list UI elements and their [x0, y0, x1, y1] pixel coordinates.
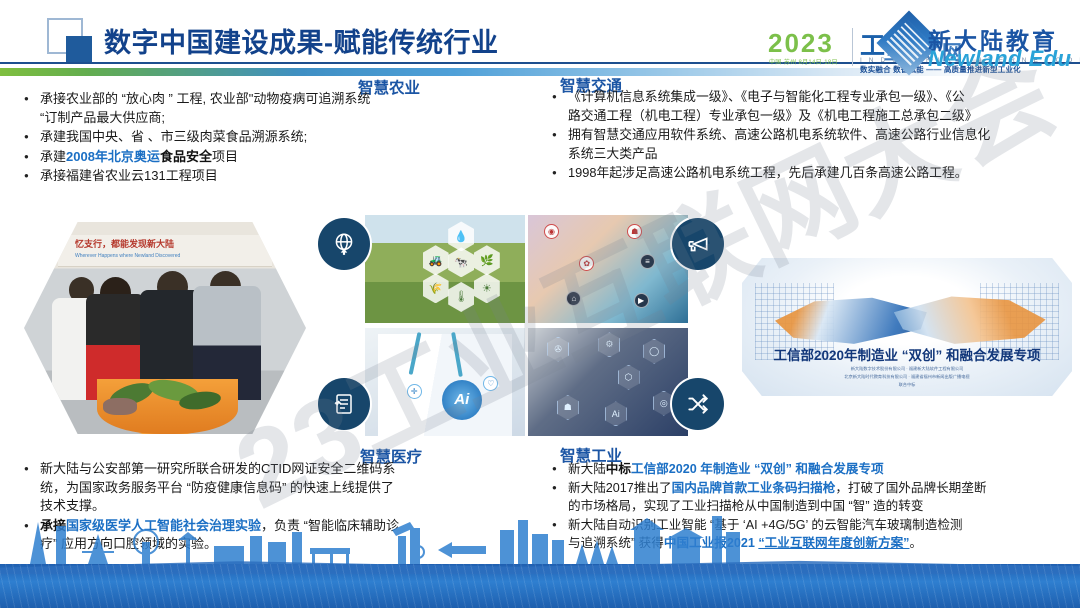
bullet-text-run: 国内品牌首款工业条码扫描枪	[672, 481, 836, 495]
photo-smart-agriculture: 💧 🚜 🌿 🐄 🌾 ☀ 🌡	[365, 215, 525, 323]
document-icon	[318, 378, 370, 430]
bullet-text-run: 承接	[40, 518, 66, 533]
bullet-line: 拥有智慧交通应用软件系统、高速公路机电系统软件、高速公路行业信息化	[568, 126, 1072, 145]
header-square-solid-decor	[66, 36, 92, 64]
page-title: 数字中国建设成果-赋能传统行业	[104, 21, 499, 60]
bullet-line: 路交通工程（机电工程）专业承包一级》及《机电工程施工总承包二级》	[568, 107, 1072, 126]
conference-logo: 2023 中国·苏州 8月14日-18日 工 互联网 I N D U S T R…	[756, 8, 1076, 70]
bullet-text-run: 的市场格局，实现了工业扫描枪从中国制造到中国 “智” 造的转变	[568, 499, 923, 513]
bullet-item: 承建2008年北京奥运食品安全项目	[24, 148, 544, 167]
award-banner: 工信部2020年制造业 “双创” 和融合发展专项 新大陆数字技术股份有限公司 ·…	[742, 258, 1072, 396]
globe-icon	[318, 218, 370, 270]
bullet-line: 新大陆自动识别工业智能 “基于 ‘AI +4G/5G’ 的云智能汽车玻璃制造检测	[568, 516, 1076, 534]
bullet-line: 承接农业部的 “放心肉 ” 工程, 农业部"动物疫病可追溯系统	[40, 90, 544, 109]
bullet-item: 承接福建省农业云131工程项目	[24, 167, 544, 186]
bullet-line: 系统三大类产品	[568, 145, 1072, 164]
bullet-item: 拥有智慧交通应用软件系统、高速公路机电系统软件、高速公路行业信息化系统三大类产品	[552, 126, 1072, 163]
banner-subtitle-line3: 联合中标	[795, 382, 1019, 388]
bullet-line: 新大陆与公安部第一研究所联合研发的CTID网证安全二维码系	[40, 460, 544, 479]
bullet-line: 疗” 应用方向口腔领域的实验。	[40, 535, 544, 554]
bullet-line: 与追溯系统” 获得中国工业报2021 “工业互联网年度创新方案”。	[568, 534, 1076, 552]
bullet-text-run: 国家级医学人工智能社会治理实验	[66, 518, 261, 533]
slide: 数字中国建设成果-赋能传统行业 2023 中国·苏州 8月14日-18日 工 互…	[0, 0, 1080, 608]
bullet-text-run: 统，为国家政务服务平台 “防疫健康信息码” 的快速上线提供了	[40, 480, 394, 495]
bullet-text-run: 中国工业报2021	[664, 536, 758, 550]
inspection-photo: 忆支行，都能发现新大陆 Wherever Happens where Newla…	[24, 222, 306, 434]
bullet-line: 的市场格局，实现了工业扫描枪从中国制造到中国 “智” 造的转变	[568, 497, 1076, 515]
photo-banner-title: 忆支行，都能发现新大陆	[75, 237, 174, 250]
bullet-item: 承接农业部的 “放心肉 ” 工程, 农业部"动物疫病可追溯系统“订制产品最大供应…	[24, 90, 544, 127]
bullet-text-run: 1998年起涉足高速公路机电系统工程，先后承建几百条高速公路工程。	[568, 165, 968, 180]
bullet-item: 新大陆自动识别工业智能 “基于 ‘AI +4G/5G’ 的云智能汽车玻璃制造检测…	[552, 516, 1076, 552]
bullet-text-run: 新大陆2017推出了	[568, 481, 672, 495]
bullet-text-run: 路交通工程（机电工程）专业承包一级》及《机电工程施工总承包二级》	[568, 108, 978, 123]
photo-store-banner: 忆支行，都能发现新大陆 Wherever Happens where Newla…	[58, 235, 272, 267]
bullet-text-run: 。	[909, 536, 922, 550]
bullet-line: 技术支撑。	[40, 497, 544, 516]
bullet-line: 统，为国家政务服务平台 “防疫健康信息码” 的快速上线提供了	[40, 479, 544, 498]
logo-divider	[852, 28, 853, 66]
bullet-list-industry: 新大陆中标工信部2020 年制造业 “双创” 和融合发展专项新大陆2017推出了…	[552, 460, 1076, 553]
banner-subtitle-line1: 新大陆数字技术股份有限公司 · 福建新大陆软件工程有限公司	[795, 366, 1019, 372]
bullet-list-agriculture: 承接农业部的 “放心肉 ” 工程, 农业部"动物疫病可追溯系统“订制产品最大供应…	[24, 90, 544, 187]
bullet-text-run: 承接福建省农业云131工程项目	[40, 168, 218, 183]
bullet-text-run: 新大陆	[568, 462, 606, 476]
bullet-text-run: 食品安全	[160, 149, 212, 164]
bullet-text-run: ，打破了国外品牌长期垄断	[835, 481, 986, 495]
bullet-text-run: 2008年北京奥运	[66, 149, 160, 164]
bullet-line: 承建2008年北京奥运食品安全项目	[40, 148, 544, 167]
photo-smart-city: ◉ ☗ ✿ ≡ ⌂ ▶	[528, 215, 688, 323]
bullet-line: 承接国家级医学人工智能社会治理实验，负责 “智能临床辅助诊	[40, 517, 544, 536]
photo-smart-industry: ✇ ⚙ ◯ ⬡ ☗ Ai ◎	[528, 328, 688, 436]
bullet-item: 《计算机信息系统集成一级》、《电子与智能化工程专业承包一级》、《公路交通工程（机…	[552, 88, 1072, 125]
bullet-text-run: 疗” 应用方向口腔领域的实验。	[40, 536, 217, 551]
bullet-text-run: ，负责 “智能临床辅助诊	[261, 518, 399, 533]
ai-badge: Ai	[442, 380, 482, 420]
bullet-text-run: 与追溯系统” 获得	[568, 536, 664, 550]
photo-banner-subtitle: Wherever Happens where Newland Discovere…	[75, 253, 180, 259]
bullet-text-run: “工业互联网年度创新方案”	[758, 536, 909, 550]
bullet-item: 1998年起涉足高速公路机电系统工程，先后承建几百条高速公路工程。	[552, 164, 1072, 183]
bullet-line: 承接福建省农业云131工程项目	[40, 167, 544, 186]
bullet-text-run: 中标	[606, 462, 631, 476]
bullet-line: 承建我国中央、省 、市三级肉菜食品溯源系统;	[40, 128, 544, 147]
photo-smart-medical: Ai ✛ ♡	[365, 328, 525, 436]
bullet-text-run: 项目	[212, 149, 238, 164]
bullet-line: 1998年起涉足高速公路机电系统工程，先后承建几百条高速公路工程。	[568, 164, 1072, 183]
bullet-item: 新大陆与公安部第一研究所联合研发的CTID网证安全二维码系统，为国家政务服务平台…	[24, 460, 544, 516]
bullet-text-run: 系统三大类产品	[568, 146, 658, 161]
bullet-line: 新大陆2017推出了国内品牌首款工业条码扫描枪，打破了国外品牌长期垄断	[568, 479, 1076, 497]
logo-year: 2023	[768, 30, 834, 56]
bullet-text-run: 拥有智慧交通应用软件系统、高速公路机电系统软件、高速公路行业信息化	[568, 127, 990, 142]
bullet-text-run: 技术支撑。	[40, 498, 105, 513]
bullet-text-run: 《计算机信息系统集成一级》、《电子与智能化工程专业承包一级》、《公	[568, 89, 965, 104]
footer-wave-decor	[0, 558, 1080, 574]
bullet-text-run: 承建我国中央、省 、市三级肉菜食品溯源系统;	[40, 129, 307, 144]
bullet-list-medical: 新大陆与公安部第一研究所联合研发的CTID网证安全二维码系统，为国家政务服务平台…	[24, 460, 544, 555]
banner-title: 工信部2020年制造业 “双创” 和融合发展专项	[742, 344, 1072, 364]
bullet-line: “订制产品最大供应商;	[40, 109, 544, 128]
bullet-line: 新大陆中标工信部2020 年制造业 “双创” 和融合发展专项	[568, 460, 1076, 478]
logo-year-subtitle: 中国·苏州 8月14日-18日	[769, 57, 838, 66]
megaphone-icon	[672, 218, 724, 270]
bullet-item: 承接国家级医学人工智能社会治理实验，负责 “智能临床辅助诊疗” 应用方向口腔领域…	[24, 517, 544, 554]
brand-name-en: Newland Edu	[928, 46, 1072, 72]
bullet-line: 《计算机信息系统集成一级》、《电子与智能化工程专业承包一级》、《公	[568, 88, 1072, 107]
bullet-list-transport: 《计算机信息系统集成一级》、《电子与智能化工程专业承包一级》、《公路交通工程（机…	[552, 88, 1072, 184]
bullet-text-run: 承建	[40, 149, 66, 164]
bullet-text-run: 承接农业部的 “放心肉 ” 工程, 农业部"动物疫病可追溯系统	[40, 91, 370, 106]
bullet-text-run: “订制产品最大供应商;	[40, 110, 165, 125]
banner-subtitle-line2: 北京新大陆时代教育科技有限公司 · 福建省福州市新闻出版广播电视	[795, 374, 1019, 380]
footer-band	[0, 564, 1080, 608]
bullet-item: 新大陆中标工信部2020 年制造业 “双创” 和融合发展专项	[552, 460, 1076, 478]
shuffle-icon	[672, 378, 724, 430]
bullet-text-run: 新大陆与公安部第一研究所联合研发的CTID网证安全二维码系	[40, 461, 395, 476]
bullet-text-run: 新大陆自动识别工业智能 “基于 ‘AI +4G/5G’ 的云智能汽车玻璃制造检测	[568, 518, 963, 532]
bullet-item: 承建我国中央、省 、市三级肉菜食品溯源系统;	[24, 128, 544, 147]
bullet-item: 新大陆2017推出了国内品牌首款工业条码扫描枪，打破了国外品牌长期垄断的市场格局…	[552, 479, 1076, 515]
bullet-text-run: 工信部2020 年制造业 “双创” 和融合发展专项	[631, 462, 884, 476]
